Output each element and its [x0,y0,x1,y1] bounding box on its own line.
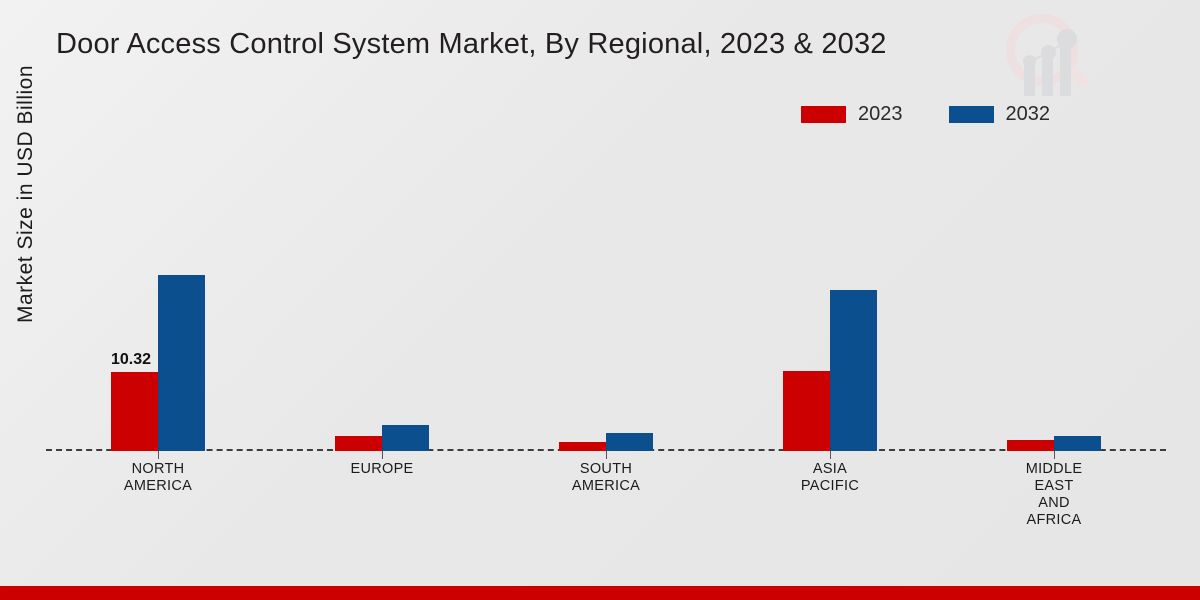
bar-group: MIDDLEEASTANDAFRICA [942,150,1166,451]
bar-2023[interactable] [783,371,830,451]
legend-label-2032: 2032 [1006,103,1051,126]
bar-2023[interactable] [559,442,606,451]
x-axis-label-line: MIDDLE [1026,461,1083,478]
x-axis-label-line: AMERICA [124,478,192,495]
legend-swatch-2032 [949,106,994,123]
bar-pair [1007,436,1101,451]
x-axis-label: MIDDLEEASTANDAFRICA [1026,461,1083,529]
bar-group: ASIAPACIFIC [718,150,942,451]
x-axis-label: SOUTHAMERICA [572,461,640,495]
x-axis-tick [1054,451,1055,459]
x-axis-label-line: AMERICA [572,478,640,495]
legend-item-2023[interactable]: 2023 [801,103,903,126]
chart-title: Door Access Control System Market, By Re… [56,28,1056,61]
bar-2032[interactable] [158,275,205,451]
bar-2032[interactable] [1054,436,1101,451]
x-axis-label-line: NORTH [124,461,192,478]
bar-2023[interactable] [1007,440,1054,451]
bar-pair [559,433,653,451]
plot-area: NORTHAMERICA10.32EUROPESOUTHAMERICAASIAP… [46,150,1166,451]
bar-2032[interactable] [382,425,429,451]
bar-2032[interactable] [606,433,653,451]
x-axis-label-line: AFRICA [1026,512,1083,529]
x-axis-label-line: SOUTH [572,461,640,478]
x-axis-label: EUROPE [350,461,413,478]
x-axis-tick [382,451,383,459]
bar-2023[interactable] [111,372,158,451]
watermark-bar-3 [1060,42,1071,96]
x-axis-label: ASIAPACIFIC [801,461,859,495]
bar-2023[interactable] [335,436,382,451]
bar-group: NORTHAMERICA10.32 [46,150,270,451]
x-axis-tick [606,451,607,459]
bar-data-label: 10.32 [111,351,151,369]
legend-label-2023: 2023 [858,103,903,126]
x-axis-tick [158,451,159,459]
chart-legend: 2023 2032 [801,103,1050,126]
x-axis-label-line: EAST [1026,478,1083,495]
x-axis-label-line: EUROPE [350,461,413,478]
bar-pair [335,425,429,451]
bar-pair [783,290,877,451]
y-axis-title: Market Size in USD Billion [14,14,38,374]
x-axis-label-line: ASIA [801,461,859,478]
x-axis-tick [830,451,831,459]
x-axis-label: NORTHAMERICA [124,461,192,495]
x-axis-label-line: AND [1026,495,1083,512]
x-axis-label-line: PACIFIC [801,478,859,495]
footer-accent-strip [0,586,1200,600]
bar-groups: NORTHAMERICA10.32EUROPESOUTHAMERICAASIAP… [46,150,1166,451]
watermark-bar-1 [1024,64,1035,96]
chart-canvas: Door Access Control System Market, By Re… [0,0,1200,600]
bar-2032[interactable] [830,290,877,451]
legend-swatch-2023 [801,106,846,123]
watermark-dot-3 [1057,29,1077,49]
bar-group: EUROPE [270,150,494,451]
bar-group: SOUTHAMERICA [494,150,718,451]
legend-item-2032[interactable]: 2032 [949,103,1051,126]
